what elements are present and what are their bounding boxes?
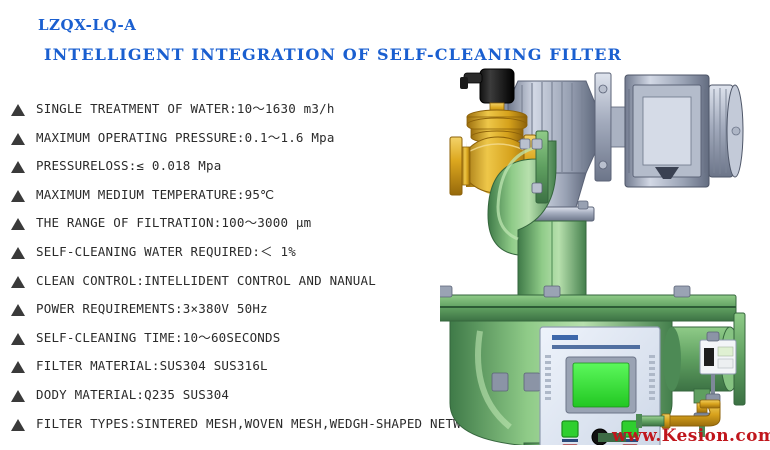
list-item-label: DODY MATERIAL:Q235 SUS304 bbox=[36, 381, 229, 410]
list-item-label: SINGLE TREATMENT OF WATER:10～1630 m3/h bbox=[36, 95, 335, 124]
triangle-bullet-icon bbox=[11, 133, 25, 145]
triangle-bullet-icon bbox=[11, 161, 25, 173]
triangle-bullet-icon bbox=[11, 361, 25, 373]
triangle-bullet-icon bbox=[11, 247, 25, 259]
list-item-label: SELF-CLEANING TIME:10～60SECONDS bbox=[36, 324, 280, 353]
list-item-label: FILTER TYPES:SINTERED MESH,WOVEN MESH,WE… bbox=[36, 410, 484, 439]
list-item-label: FILTER MATERIAL:SUS304 SUS316L bbox=[36, 352, 268, 381]
triangle-bullet-icon bbox=[11, 190, 25, 202]
list-item-label: MAXIMUM MEDIUM TEMPERATURE:95℃ bbox=[36, 181, 274, 210]
triangle-bullet-icon bbox=[11, 304, 25, 316]
triangle-bullet-icon bbox=[11, 333, 25, 345]
watermark-text: www.Kesion.com bbox=[612, 426, 770, 446]
list-item-label: CLEAN CONTROL:INTELLIDENT CONTROL AND NA… bbox=[36, 267, 376, 296]
triangle-bullet-icon bbox=[11, 218, 25, 230]
list-item-label: PRESSURELOSS:≤ 0.018 Mpa bbox=[36, 152, 221, 181]
triangle-bullet-icon bbox=[11, 104, 25, 116]
model-code-title: LZQX-LQ-A bbox=[38, 16, 136, 34]
electric-motor-icon bbox=[625, 75, 743, 187]
triangle-bullet-icon bbox=[11, 419, 25, 431]
product-spec-page: LZQX-LQ-A INTELLIGENT INTEGRATION OF SEL… bbox=[0, 0, 770, 450]
list-item-label: MAXIMUM OPERATING PRESSURE:0.1～1.6 Mpa bbox=[36, 124, 335, 153]
list-item-label: SELF-CLEANING WATER REQUIRED:＜ 1% bbox=[36, 238, 296, 267]
triangle-bullet-icon bbox=[11, 390, 25, 402]
list-item-label: THE RANGE OF FILTRATION:100～3000 μm bbox=[36, 209, 311, 238]
triangle-bullet-icon bbox=[11, 276, 25, 288]
motor-coupling-flange bbox=[595, 73, 625, 181]
list-item-label: POWER REQUIREMENTS:3×380V 50Hz bbox=[36, 295, 268, 324]
